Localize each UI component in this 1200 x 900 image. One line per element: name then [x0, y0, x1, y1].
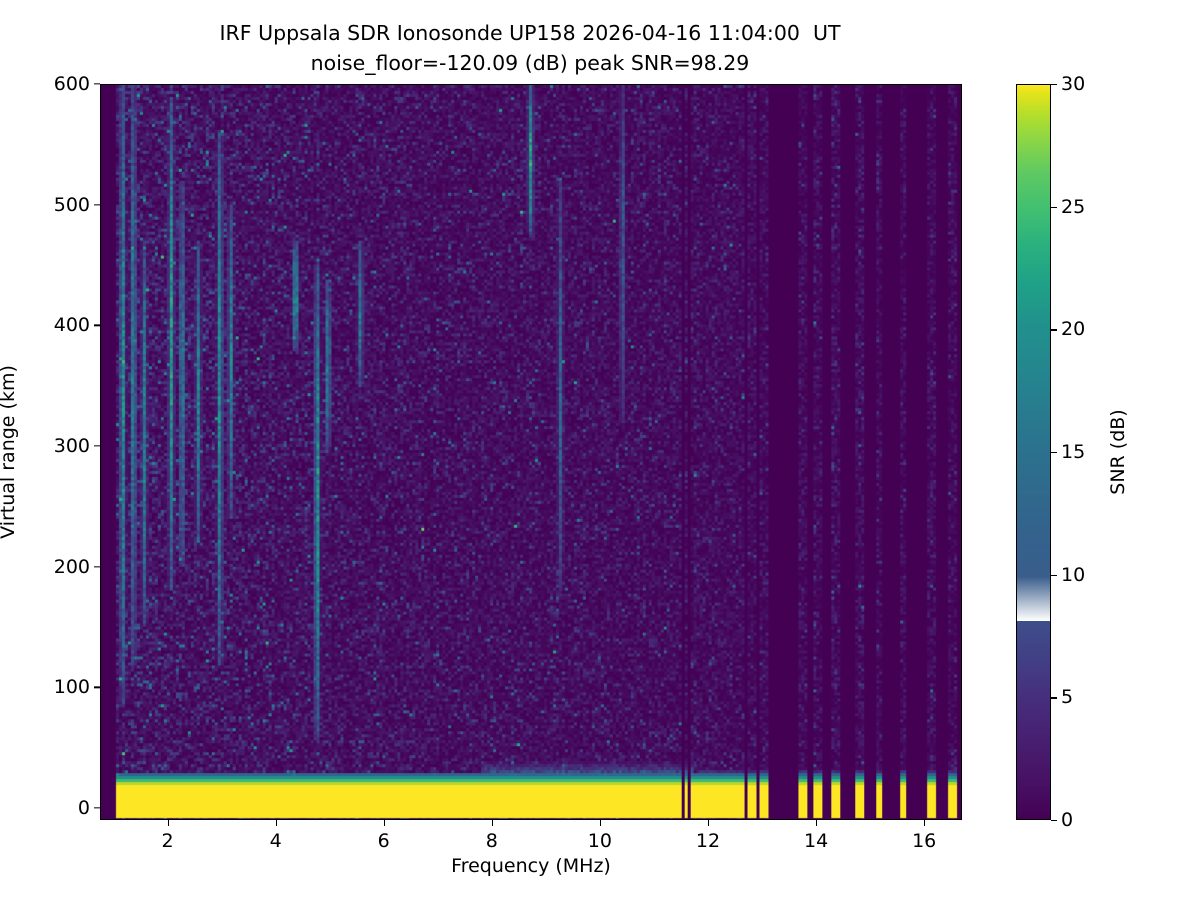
x-tick-label: 4: [270, 830, 282, 852]
chart-title: IRF Uppsala SDR Ionosonde UP158 2026-04-…: [0, 18, 1060, 78]
x-tick-mark: [168, 820, 169, 826]
colorbar-tick-label: 20: [1061, 318, 1085, 340]
y-tick-label: 600: [54, 73, 90, 95]
x-tick-mark: [492, 820, 493, 826]
title-line-subtitle: noise_floor=-120.09 (dB) peak SNR=98.29: [0, 48, 1060, 78]
x-tick-label: 14: [804, 830, 828, 852]
y-tick-label: 0: [78, 797, 90, 819]
x-tick-label: 2: [162, 830, 174, 852]
x-tick-label: 10: [588, 830, 612, 852]
colorbar-tick-mark: [1051, 84, 1057, 85]
x-axis-label: Frequency (MHz): [451, 855, 611, 877]
y-tick-label: 100: [54, 676, 90, 698]
colorbar-tick-mark: [1051, 820, 1057, 821]
colorbar-tick-label: 10: [1061, 564, 1085, 586]
colorbar-tick-label: 5: [1061, 686, 1073, 708]
ionogram-figure: IRF Uppsala SDR Ionosonde UP158 2026-04-…: [0, 0, 1200, 900]
colorbar-tick-label: 0: [1061, 809, 1073, 831]
y-tick-mark: [94, 566, 100, 567]
colorbar-tick-mark: [1051, 575, 1057, 576]
title-line-main: IRF Uppsala SDR Ionosonde UP158 2026-04-…: [0, 18, 1060, 48]
colorbar-tick-mark: [1051, 452, 1057, 453]
x-tick-mark: [276, 820, 277, 826]
x-tick-mark: [384, 820, 385, 826]
x-tick-label: 16: [912, 830, 936, 852]
x-tick-label: 12: [696, 830, 720, 852]
x-tick-mark: [600, 820, 601, 826]
x-tick-mark: [924, 820, 925, 826]
x-tick-label: 8: [486, 830, 498, 852]
colorbar-tick-label: 15: [1061, 441, 1085, 463]
ionogram-heatmap: [101, 85, 961, 819]
colorbar-tick-mark: [1051, 329, 1057, 330]
colorbar-label: SNR (dB): [1107, 409, 1129, 494]
colorbar-tick-label: 25: [1061, 196, 1085, 218]
y-tick-mark: [94, 445, 100, 446]
plot-area: [100, 84, 962, 820]
y-tick-mark: [94, 83, 100, 84]
y-tick-label: 300: [54, 435, 90, 457]
y-tick-label: 400: [54, 314, 90, 336]
y-tick-mark: [94, 325, 100, 326]
y-tick-mark: [94, 807, 100, 808]
y-axis-label: Virtual range (km): [0, 365, 19, 539]
y-tick-mark: [94, 687, 100, 688]
colorbar: [1016, 84, 1051, 820]
x-tick-mark: [708, 820, 709, 826]
y-tick-mark: [94, 204, 100, 205]
colorbar-tick-mark: [1051, 207, 1057, 208]
colorbar-tick-mark: [1051, 697, 1057, 698]
y-tick-label: 200: [54, 556, 90, 578]
colorbar-tick-label: 30: [1061, 73, 1085, 95]
x-tick-mark: [816, 820, 817, 826]
x-tick-label: 6: [378, 830, 390, 852]
y-tick-label: 500: [54, 194, 90, 216]
